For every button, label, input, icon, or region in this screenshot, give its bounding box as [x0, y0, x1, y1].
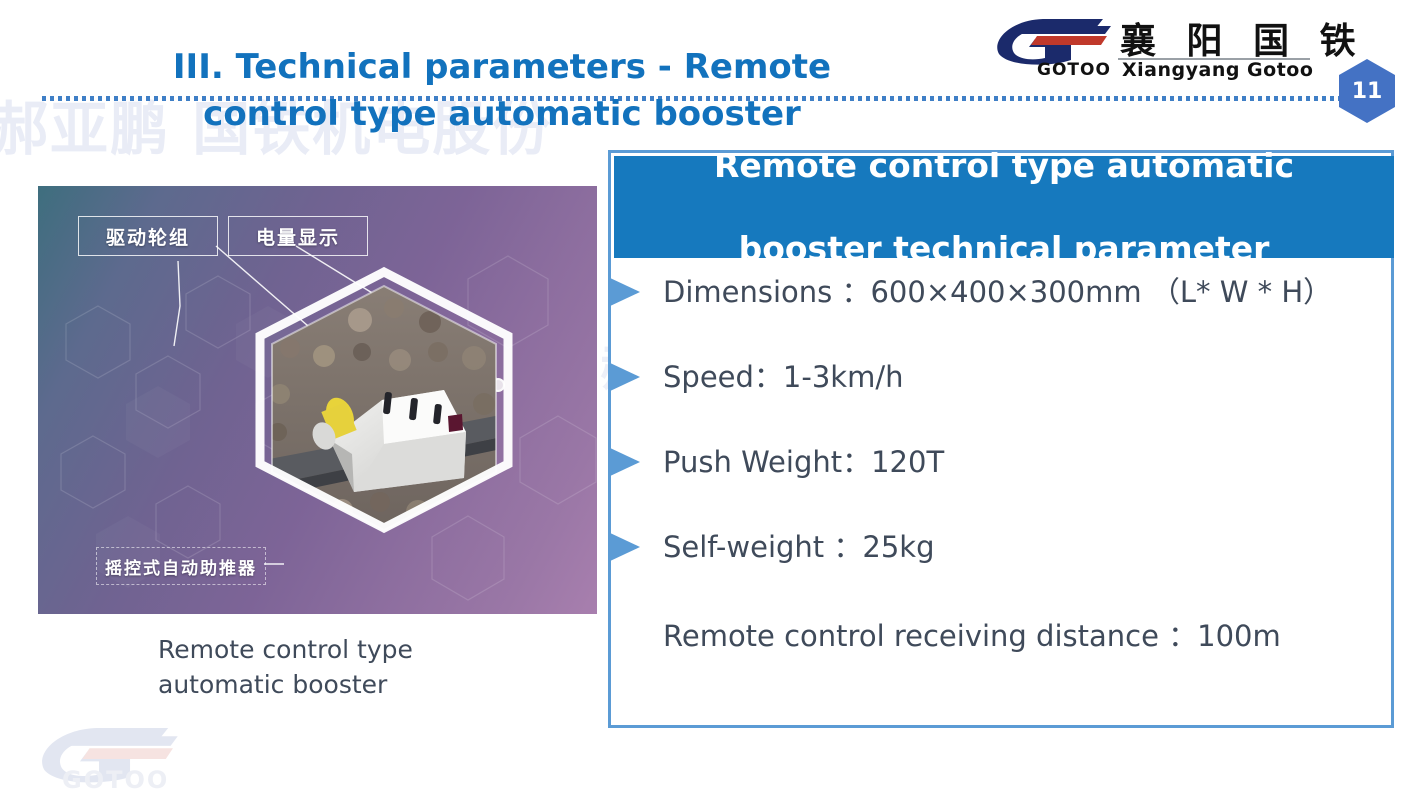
- product-image: 驱动轮组 电量显示 摇控式自动助推器: [38, 186, 597, 614]
- parameter-row: Remote control receiving distance ：100m: [611, 603, 1391, 688]
- image-caption-line2: automatic booster: [158, 670, 387, 699]
- parameters-panel-title: Remote control type automatic booster te…: [674, 145, 1334, 270]
- parameter-row: Self-weight ：25kg: [611, 518, 1391, 603]
- parameter-rows: Dimensions ：600×400×300mm （L* W * H） Spe…: [611, 263, 1391, 688]
- callout-drive-wheel: 驱动轮组: [78, 216, 218, 256]
- page-title: III. Technical parameters - Remote contr…: [72, 44, 932, 138]
- parameters-panel: Remote control type automatic booster te…: [608, 150, 1394, 728]
- slide-canvas: 郝亚鹏 国铁机电股份 III. Technical parameters - R…: [0, 0, 1423, 802]
- page-title-line2: control type automatic booster: [203, 94, 801, 134]
- logo-chinese-name: 襄 阳 国 铁: [1120, 12, 1365, 64]
- image-caption-line1: Remote control type: [158, 635, 413, 664]
- logo-english-name: Xiangyang Gotoo: [1122, 59, 1313, 81]
- booster-photo: [234, 264, 534, 554]
- callout-battery-display: 电量显示: [228, 216, 368, 256]
- triangle-bullet-icon: [608, 447, 640, 477]
- triangle-bullet-icon: [608, 532, 640, 562]
- page-title-line1: III. Technical parameters - Remote: [173, 47, 831, 87]
- parameter-text: Speed：1-3km/h: [663, 354, 903, 396]
- logo-gotoo-text: GOTOO: [1037, 60, 1111, 80]
- parameter-text: Push Weight：120T: [663, 439, 944, 481]
- parameter-text: Remote control receiving distance ：100m: [663, 613, 1281, 655]
- gotoo-mark-icon: [985, 14, 1115, 66]
- image-caption: Remote control type automatic booster: [158, 633, 488, 702]
- panel-title-line1: Remote control type automatic: [674, 145, 1334, 187]
- company-logo: GOTOO 襄 阳 国 铁 Xiangyang Gotoo: [985, 14, 1305, 84]
- triangle-bullet-icon: [608, 277, 640, 307]
- page-number-value: 11: [1337, 58, 1397, 124]
- parameter-row: Push Weight：120T: [611, 433, 1391, 518]
- parameter-text: Dimensions ：600×400×300mm （L* W * H）: [663, 269, 1332, 311]
- triangle-bullet-icon: [608, 362, 640, 392]
- parameters-panel-header: Remote control type automatic booster te…: [614, 156, 1394, 258]
- page-number-badge: 11: [1337, 58, 1397, 124]
- footer-logo-text: GOTOO: [62, 766, 169, 794]
- parameter-row: Dimensions ：600×400×300mm （L* W * H）: [611, 263, 1391, 348]
- callout-product-name: 摇控式自动助推器: [96, 547, 266, 585]
- parameter-row: Speed：1-3km/h: [611, 348, 1391, 433]
- footer-logo: GOTOO: [10, 722, 200, 794]
- parameter-text: Self-weight ：25kg: [663, 524, 935, 566]
